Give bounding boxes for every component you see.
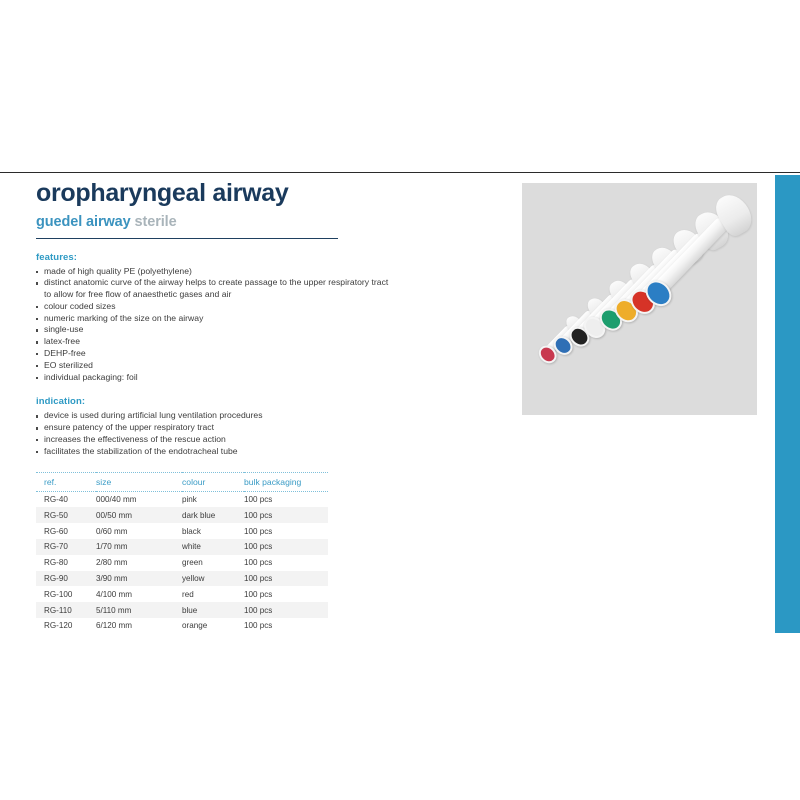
list-item: device is used during artificial lung ve… — [36, 410, 396, 422]
spec-table-wrapper: ref. size colour bulk packaging RG-40 00… — [36, 472, 328, 634]
cell-size: 5/110 mm — [96, 602, 182, 618]
cell-ref: RG-80 — [36, 555, 96, 571]
cell-bulk: 100 pcs — [244, 571, 328, 587]
product-photo — [522, 183, 757, 415]
cell-bulk: 100 pcs — [244, 555, 328, 571]
cell-ref: RG-70 — [36, 539, 96, 555]
top-divider — [0, 172, 800, 173]
table-row: RG-50 00/50 mm dark blue 100 pcs — [36, 507, 328, 523]
list-item: EO sterilized — [36, 360, 396, 372]
cell-colour: orange — [182, 618, 244, 634]
table-row: RG-100 4/100 mm red 100 pcs — [36, 586, 328, 602]
cell-bulk: 100 pcs — [244, 539, 328, 555]
cell-ref: RG-90 — [36, 571, 96, 587]
catalog-page: oropharyngeal airway guedel airway steri… — [0, 0, 800, 800]
cell-bulk: 100 pcs — [244, 523, 328, 539]
column-header-ref: ref. — [36, 472, 96, 491]
cell-bulk: 100 pcs — [244, 586, 328, 602]
right-accent-bar — [775, 175, 800, 633]
list-item: distinct anatomic curve of the airway he… — [36, 277, 396, 301]
table-row: RG-110 5/110 mm blue 100 pcs — [36, 602, 328, 618]
indication-heading: indication: — [36, 396, 396, 407]
cell-size: 6/120 mm — [96, 618, 182, 634]
cell-ref: RG-50 — [36, 507, 96, 523]
list-item: made of high quality PE (polyethylene) — [36, 266, 396, 278]
cell-ref: RG-60 — [36, 523, 96, 539]
cell-ref: RG-120 — [36, 618, 96, 634]
cell-size: 00/50 mm — [96, 507, 182, 523]
page-subtitle: guedel airway sterile — [36, 214, 396, 230]
list-item: DEHP-free — [36, 348, 396, 360]
table-row: RG-80 2/80 mm green 100 pcs — [36, 555, 328, 571]
list-item: numeric marking of the size on the airwa… — [36, 313, 396, 325]
cell-size: 4/100 mm — [96, 586, 182, 602]
list-item: ensure patency of the upper respiratory … — [36, 422, 396, 434]
list-item: colour coded sizes — [36, 301, 396, 313]
cell-bulk: 100 pcs — [244, 507, 328, 523]
page-title: oropharyngeal airway — [36, 180, 396, 208]
cell-colour: red — [182, 586, 244, 602]
subtitle-sterile-label: sterile — [135, 214, 177, 230]
list-item: increases the effectiveness of the rescu… — [36, 434, 396, 446]
cell-size: 0/60 mm — [96, 523, 182, 539]
cell-bulk: 100 pcs — [244, 602, 328, 618]
list-item: facilitates the stabilization of the end… — [36, 446, 396, 458]
cell-colour: dark blue — [182, 507, 244, 523]
cell-size: 1/70 mm — [96, 539, 182, 555]
column-header-size: size — [96, 472, 182, 491]
cell-ref: RG-100 — [36, 586, 96, 602]
list-item: individual packaging: foil — [36, 372, 396, 384]
table-row: RG-40 000/40 mm pink 100 pcs — [36, 491, 328, 507]
indication-list: device is used during artificial lung ve… — [36, 410, 396, 457]
cell-size: 000/40 mm — [96, 491, 182, 507]
cell-bulk: 100 pcs — [244, 491, 328, 507]
features-section: features: made of high quality PE (polye… — [36, 252, 396, 384]
features-heading: features: — [36, 252, 396, 263]
features-list: made of high quality PE (polyethylene) d… — [36, 266, 396, 384]
cell-colour: pink — [182, 491, 244, 507]
cell-colour: green — [182, 555, 244, 571]
cell-colour: black — [182, 523, 244, 539]
title-divider — [36, 238, 338, 239]
cell-bulk: 100 pcs — [244, 618, 328, 634]
cell-ref: RG-40 — [36, 491, 96, 507]
list-item: single-use — [36, 324, 396, 336]
table-row: RG-70 1/70 mm white 100 pcs — [36, 539, 328, 555]
table-row: RG-90 3/90 mm yellow 100 pcs — [36, 571, 328, 587]
cell-colour: blue — [182, 602, 244, 618]
product-photo-stage — [522, 183, 757, 415]
column-header-bulk: bulk packaging — [244, 472, 328, 491]
cell-size: 3/90 mm — [96, 571, 182, 587]
list-item: latex-free — [36, 336, 396, 348]
cell-colour: yellow — [182, 571, 244, 587]
cell-size: 2/80 mm — [96, 555, 182, 571]
cell-ref: RG-110 — [36, 602, 96, 618]
column-header-colour: colour — [182, 472, 244, 491]
content-column: oropharyngeal airway guedel airway steri… — [36, 180, 396, 634]
table-row: RG-60 0/60 mm black 100 pcs — [36, 523, 328, 539]
table-header-row: ref. size colour bulk packaging — [36, 472, 328, 491]
indication-section: indication: device is used during artifi… — [36, 396, 396, 457]
spec-table: ref. size colour bulk packaging RG-40 00… — [36, 472, 328, 634]
cell-colour: white — [182, 539, 244, 555]
table-row: RG-120 6/120 mm orange 100 pcs — [36, 618, 328, 634]
subtitle-product-name: guedel airway — [36, 214, 131, 230]
